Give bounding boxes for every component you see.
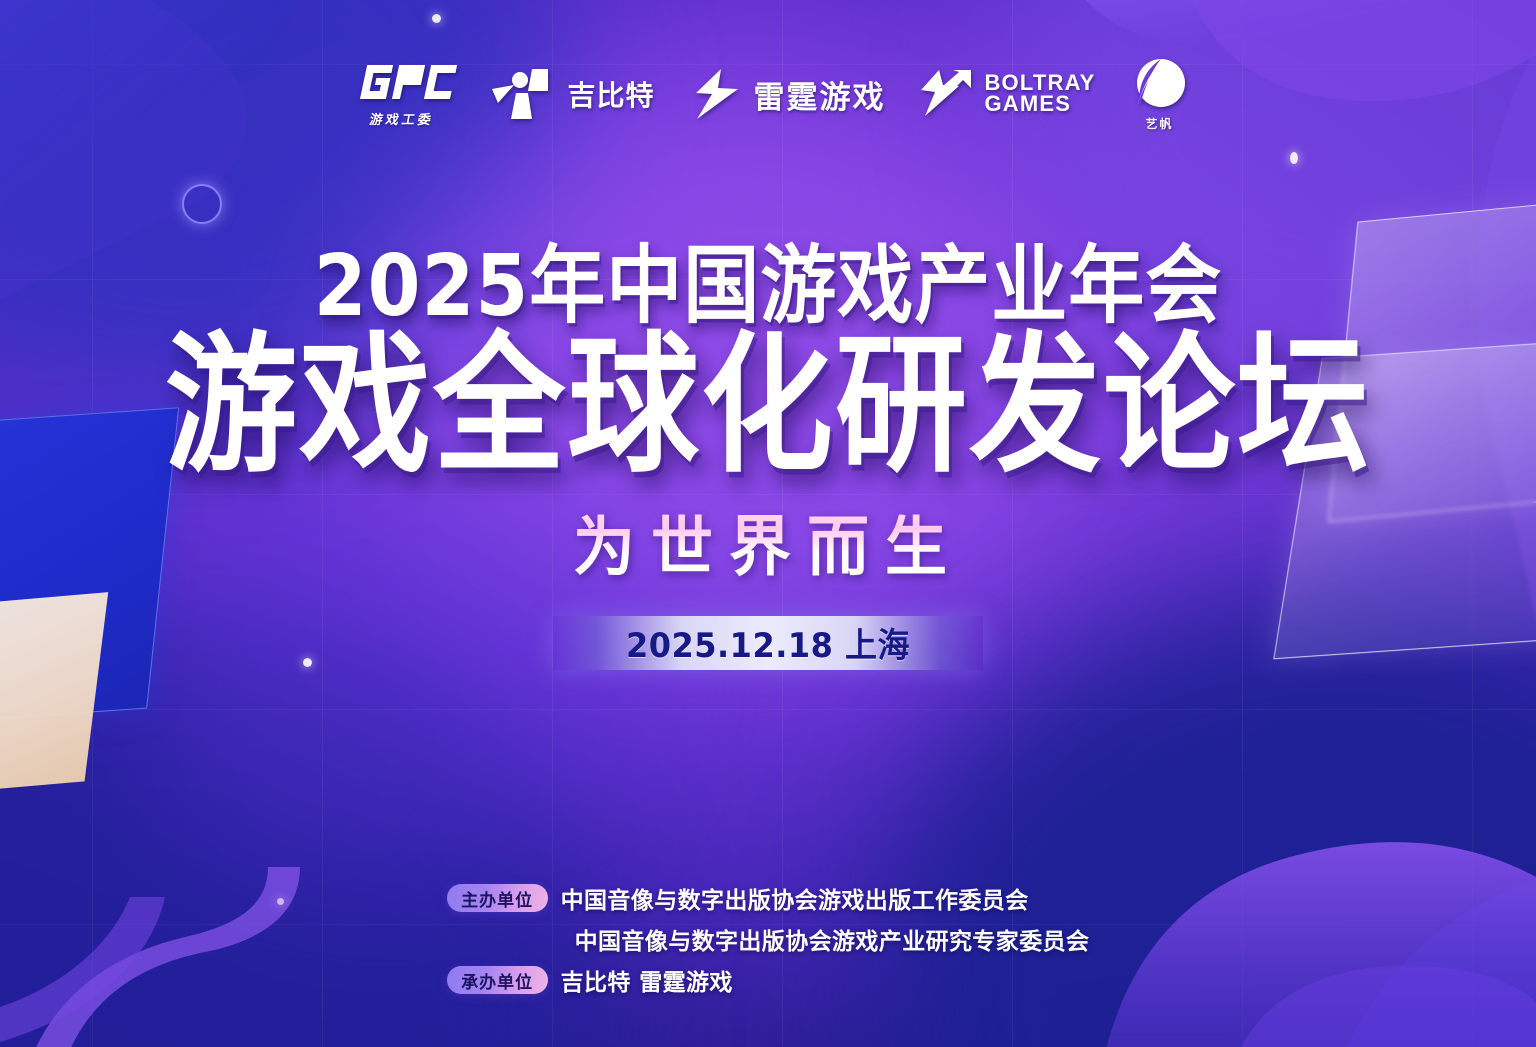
dot-decoration-1	[432, 14, 441, 23]
jibit-mark-icon	[492, 67, 558, 121]
boltray-logo-text: BOLTRAY GAMES	[984, 73, 1095, 114]
boltray-line-2: GAMES	[984, 94, 1095, 115]
forum-main-title: 游戏全球化研发论坛	[0, 331, 1536, 481]
ring-decoration-1	[182, 184, 222, 224]
leiting-logo-label: 雷霆游戏	[753, 72, 885, 117]
event-year-title: 2025年中国游戏产业年会	[0, 243, 1536, 328]
organizer-badge: 主办单位	[447, 884, 548, 912]
host-name: 吉比特 雷霆游戏	[561, 963, 733, 997]
headline-block: 2025年中国游戏产业年会 游戏全球化研发论坛 为世界而生 2025.12.18…	[0, 248, 1536, 670]
boltray-bolt-icon	[919, 68, 975, 120]
yifan-logo: 艺帆	[1130, 56, 1190, 132]
boltray-logo: BOLTRAY GAMES	[919, 68, 1095, 120]
yifan-moon-sail-icon	[1130, 56, 1190, 114]
organizer-name-1: 中国音像与数字出版协会游戏出版工作委员会	[561, 881, 1029, 915]
organizer-row-1: 主办单位 中国音像与数字出版协会游戏出版工作委员会	[447, 881, 1090, 915]
gpc-logo: 游戏工委	[346, 61, 458, 128]
gpc-logo-sub: 游戏工委	[369, 109, 436, 128]
jibit-logo-label: 吉比特	[567, 74, 654, 114]
event-poster: 游戏工委 吉比特 雷霆游戏	[0, 0, 1536, 1047]
forum-slogan: 为世界而生	[0, 514, 1536, 579]
date-location-band: 2025.12.18 上海	[553, 616, 983, 670]
dot-decoration-2	[1290, 152, 1298, 164]
host-badge: 承办单位	[447, 966, 548, 994]
partner-logo-strip: 游戏工委 吉比特 雷霆游戏	[0, 56, 1536, 132]
gpc-mark-icon	[346, 61, 458, 107]
leiting-logo: 雷霆游戏	[688, 67, 885, 121]
date-location-text: 2025.12.18 上海	[626, 619, 910, 668]
organizer-name-2: 中国音像与数字出版协会游戏产业研究专家委员会	[575, 922, 1090, 956]
credits-block: 主办单位 中国音像与数字出版协会游戏出版工作委员会 中国音像与数字出版协会游戏产…	[0, 881, 1536, 997]
yifan-logo-sub: 艺帆	[1146, 115, 1174, 132]
jibit-logo: 吉比特	[492, 67, 654, 121]
leiting-bolt-icon	[688, 67, 744, 121]
host-row: 承办单位 吉比特 雷霆游戏	[447, 963, 1090, 997]
organizer-row-2: 中国音像与数字出版协会游戏产业研究专家委员会	[447, 922, 1090, 956]
